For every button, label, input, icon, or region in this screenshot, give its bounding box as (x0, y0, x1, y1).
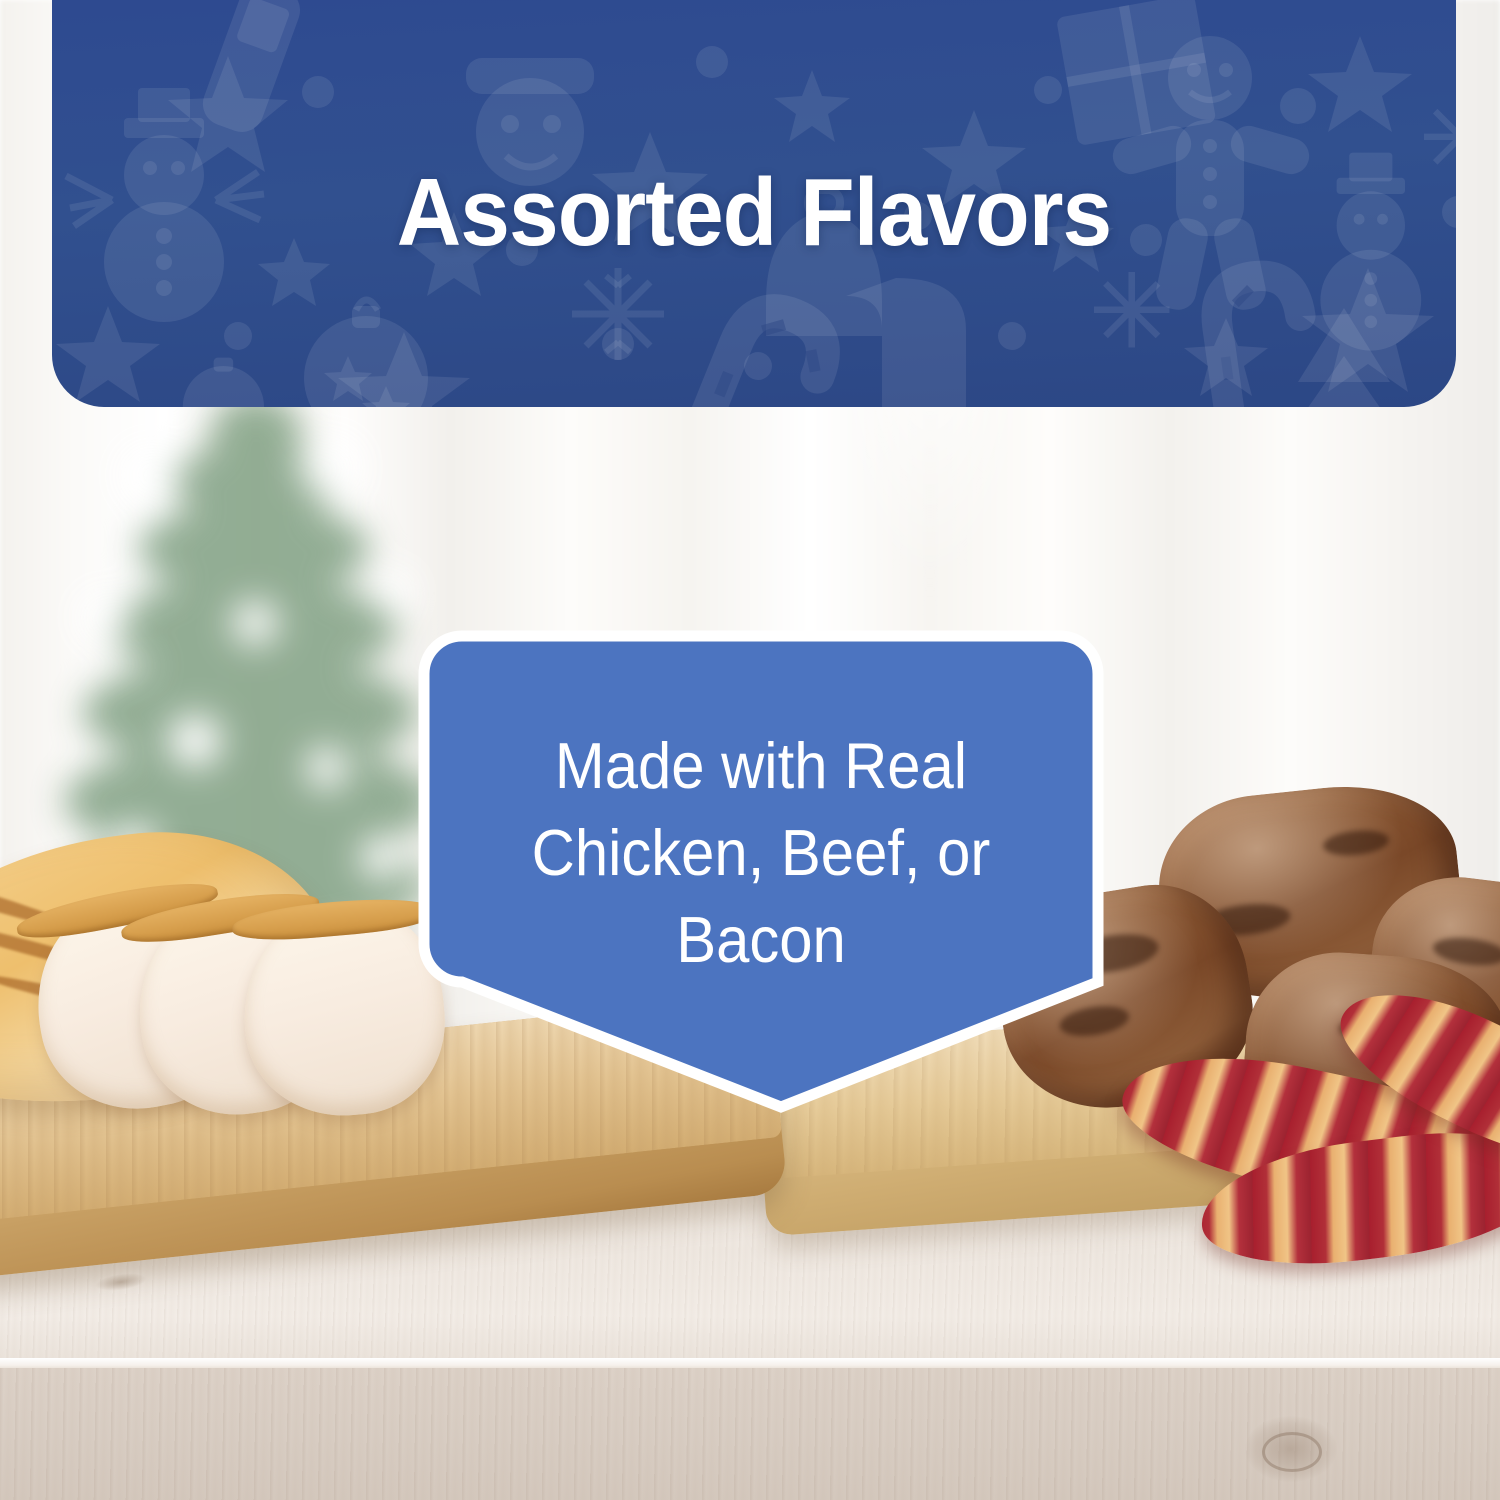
star-icon (56, 306, 160, 402)
callout-line-3: Bacon (488, 896, 1034, 983)
header-banner: Assorted Flavors (52, 0, 1456, 407)
star-icon (774, 70, 850, 142)
gift-icon (1056, 0, 1216, 146)
page-title: Assorted Flavors (101, 158, 1407, 268)
table-front-panel (0, 1368, 1500, 1500)
callout-text: Made with Real Chicken, Beef, or Bacon (488, 722, 1034, 983)
wood-knot (94, 1270, 148, 1293)
snowflake-icon (1424, 100, 1456, 174)
wood-knot-ring (1262, 1432, 1322, 1472)
callout-line-1: Made with Real (488, 722, 1034, 809)
product-feature-image: Assorted Flavors Made with Real Chicken,… (0, 0, 1500, 1500)
callout-line-2: Chicken, Beef, or (488, 809, 1034, 896)
star-icon (1308, 36, 1412, 132)
ornament-icon (183, 358, 264, 407)
callout-tag: Made with Real Chicken, Beef, or Bacon (418, 630, 1104, 1113)
